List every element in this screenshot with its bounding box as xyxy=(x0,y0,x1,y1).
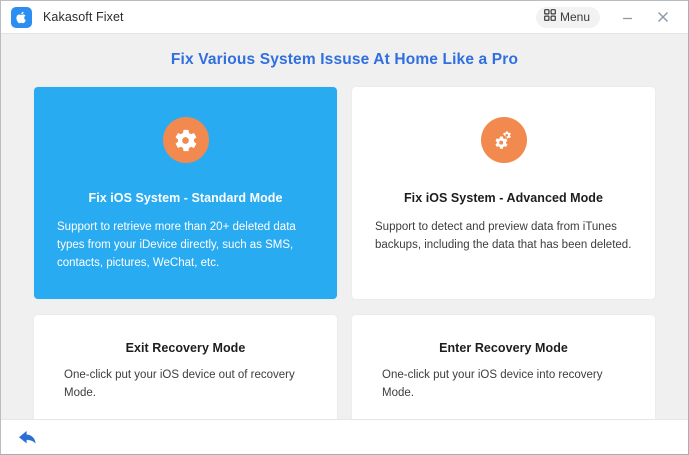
double-gear-icon xyxy=(481,117,527,163)
card-description: Support to detect and preview data from … xyxy=(375,219,632,255)
card-exit-recovery-mode[interactable]: Exit Recovery Mode One-click put your iO… xyxy=(34,315,337,419)
mode-card-grid: Fix iOS System - Standard Mode Support t… xyxy=(34,87,655,419)
minimize-icon xyxy=(621,11,634,24)
page-headline: Fix Various System Issuse At Home Like a… xyxy=(34,34,655,69)
apple-logo-icon xyxy=(11,7,32,28)
close-button[interactable] xyxy=(648,1,678,34)
title-bar: Kakasoft Fixet Menu xyxy=(1,1,688,34)
card-description: Support to retrieve more than 20+ delete… xyxy=(57,219,314,272)
main-content: Fix Various System Issuse At Home Like a… xyxy=(1,34,688,419)
card-icon-area xyxy=(352,87,655,163)
card-fix-ios-standard-mode[interactable]: Fix iOS System - Standard Mode Support t… xyxy=(34,87,337,299)
card-title: Fix iOS System - Advanced Mode xyxy=(352,191,655,205)
app-window: Kakasoft Fixet Menu xyxy=(0,0,689,455)
app-title: Kakasoft Fixet xyxy=(43,10,124,24)
card-title: Enter Recovery Mode xyxy=(352,341,655,355)
card-fix-ios-advanced-mode[interactable]: Fix iOS System - Advanced Mode Support t… xyxy=(352,87,655,299)
menu-button-label: Menu xyxy=(560,11,590,23)
card-description: One-click put your iOS device into recov… xyxy=(382,367,625,403)
close-icon xyxy=(656,10,670,24)
grid-squares-icon xyxy=(544,8,556,26)
footer-bar xyxy=(1,419,688,454)
window-controls: Menu xyxy=(536,1,688,33)
card-enter-recovery-mode[interactable]: Enter Recovery Mode One-click put your i… xyxy=(352,315,655,419)
card-title: Fix iOS System - Standard Mode xyxy=(34,191,337,205)
card-title: Exit Recovery Mode xyxy=(34,341,337,355)
card-icon-area xyxy=(34,87,337,163)
menu-button[interactable]: Menu xyxy=(536,7,600,28)
back-arrow-icon xyxy=(17,427,39,447)
minimize-button[interactable] xyxy=(612,1,642,34)
card-description: One-click put your iOS device out of rec… xyxy=(64,367,307,403)
gear-icon xyxy=(163,117,209,163)
back-button[interactable] xyxy=(15,425,41,449)
